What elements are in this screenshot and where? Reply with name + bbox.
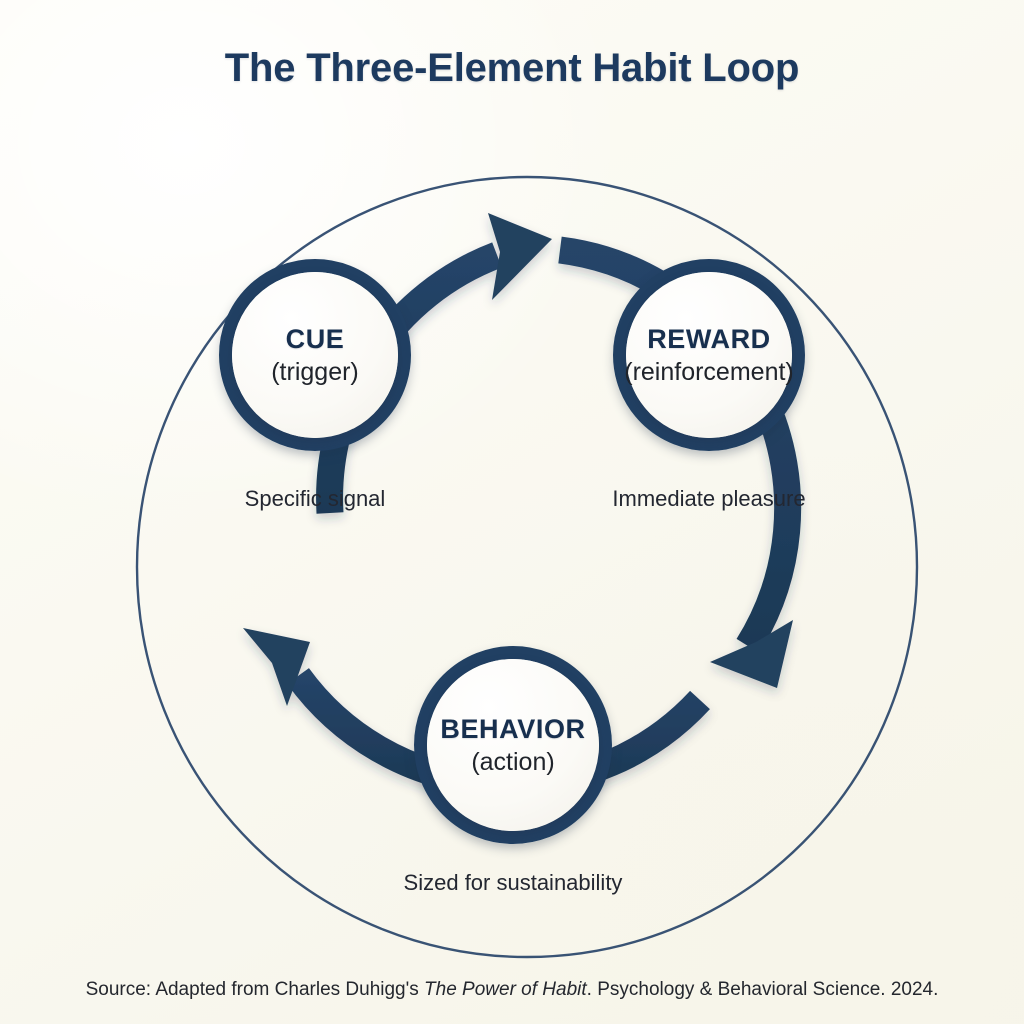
node-reward-caption: Immediate pleasure xyxy=(519,486,899,512)
node-reward-title: REWARD xyxy=(647,325,771,353)
diagram-canvas: The Three-Element Habit Loop xyxy=(0,0,1024,1024)
source-work-title: The Power of Habit xyxy=(424,979,587,1000)
source-note: Source: Adapted from Charles Duhigg's Th… xyxy=(0,979,1024,1001)
source-suffix: . Psychology & Behavioral Science. 2024. xyxy=(587,979,939,1000)
node-behavior-caption: Sized for sustainability xyxy=(333,870,693,896)
source-prefix: Source: Adapted from Charles Duhigg's xyxy=(86,979,424,1000)
arrow-cue-to-reward-head xyxy=(488,213,552,300)
node-cue-title: CUE xyxy=(286,325,345,353)
node-reward-subtitle: (reinforcement) xyxy=(624,359,794,385)
node-reward[interactable]: REWARD (reinforcement) xyxy=(626,272,792,438)
node-behavior[interactable]: BEHAVIOR (action) xyxy=(427,659,599,831)
node-behavior-title: BEHAVIOR xyxy=(440,715,585,743)
node-cue[interactable]: CUE (trigger) xyxy=(232,272,398,438)
node-cue-caption: Specific signal xyxy=(165,486,465,512)
node-behavior-subtitle: (action) xyxy=(471,749,554,775)
node-cue-subtitle: (trigger) xyxy=(271,359,359,385)
